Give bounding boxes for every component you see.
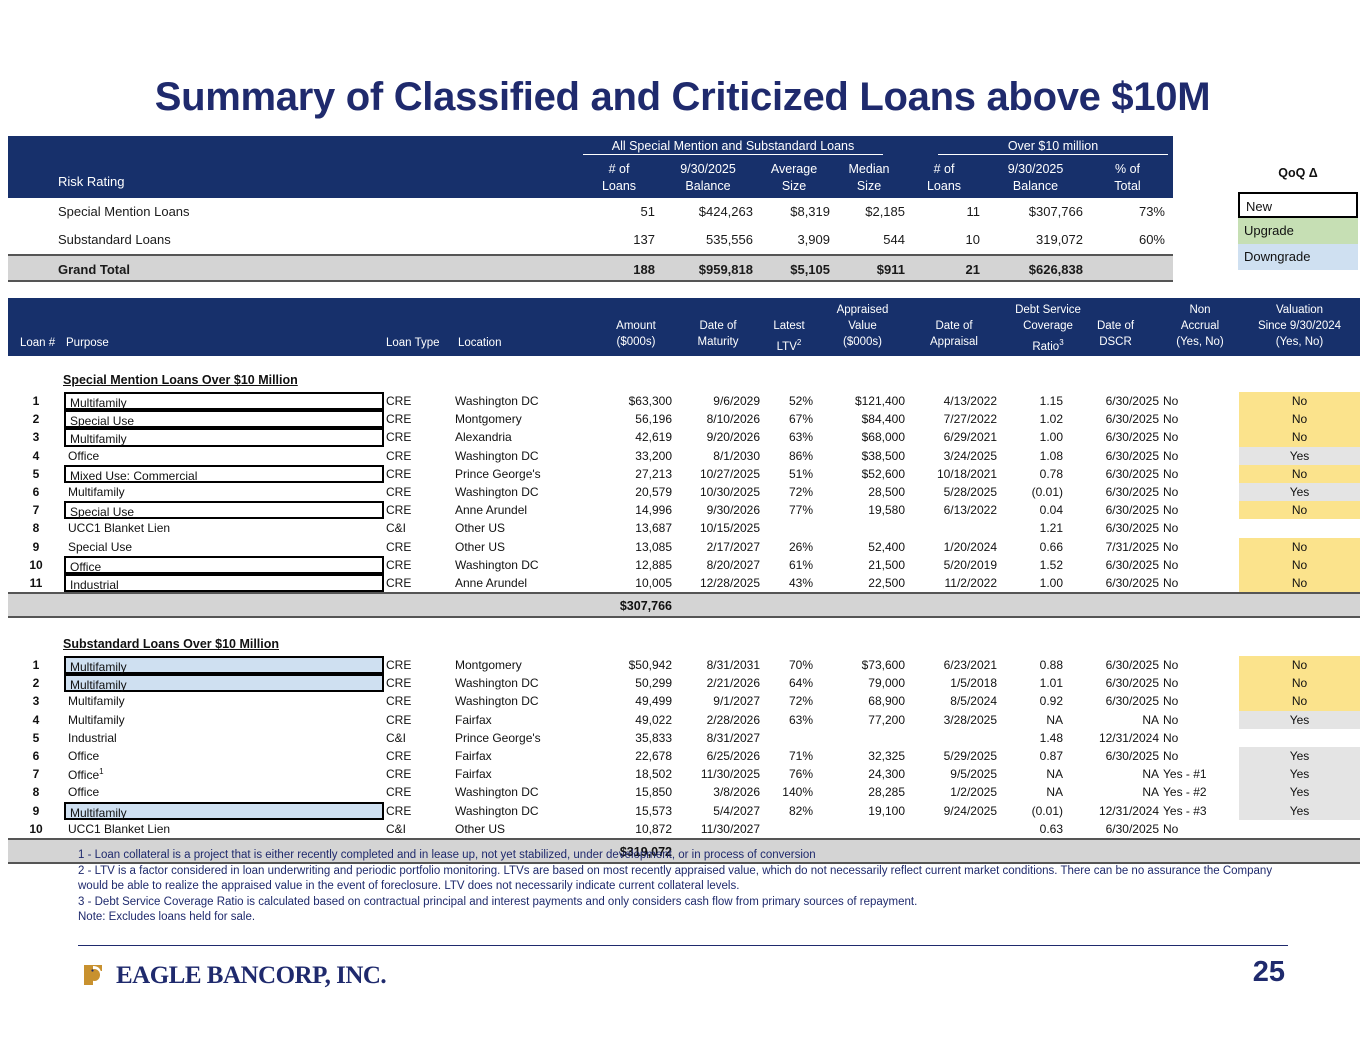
- summary-col-nloans-all-l1: # of: [583, 162, 655, 176]
- row-loan-number: 2: [24, 412, 48, 426]
- row-dscr: 1.08: [1003, 449, 1063, 463]
- row-dscr-date: NA: [1072, 767, 1159, 781]
- row-loan-number: 10: [24, 558, 48, 572]
- row-maturity-date: 9/20/2026: [676, 430, 760, 444]
- row-amount: $63,300: [600, 394, 672, 408]
- table-row[interactable]: 6MultifamilyCREWashington DC20,57910/30/…: [8, 483, 1360, 501]
- detail-col-ltv-text: LTV: [777, 341, 797, 353]
- row-appraised-value: $68,000: [820, 430, 905, 444]
- detail-header: Loan # Purpose Loan Type Location Amount…: [8, 298, 1360, 356]
- row-dscr: 0.88: [1003, 658, 1063, 672]
- table-row[interactable]: 8OfficeCREWashington DC15,8503/8/2026140…: [8, 783, 1360, 801]
- row-dscr-date: 6/30/2025: [1072, 503, 1159, 517]
- row-purpose-cell[interactable]: UCC1 Blanket Lien: [64, 820, 384, 838]
- row-appraised-value: 68,900: [820, 694, 905, 708]
- detail-col-amount-l1: Amount: [600, 320, 672, 333]
- row-purpose-cell[interactable]: Office: [64, 747, 384, 765]
- row-location: Montgomery: [455, 412, 605, 426]
- summary-row-substandard: Substandard Loans 137 535,556 3,909 544 …: [8, 226, 1173, 254]
- section-spacer: [8, 618, 1360, 634]
- row-dscr: 1.01: [1003, 676, 1063, 690]
- row-appraised-value: 28,285: [820, 785, 905, 799]
- detail-col-location: Location: [458, 337, 501, 349]
- summary-col-avgsize-l2: Size: [758, 179, 830, 193]
- row-maturity-date: 8/1/2030: [676, 449, 760, 463]
- row-appraisal-date: 1/2/2025: [911, 785, 997, 799]
- row-purpose-cell[interactable]: Industrial: [64, 574, 384, 592]
- row-loan-type: C&I: [386, 521, 456, 535]
- detail-col-dscr-l1: Debt Service: [993, 304, 1103, 317]
- row-ltv: 72%: [765, 694, 813, 708]
- detail-col-dscrdate-l2: DSCR: [1072, 336, 1159, 349]
- row-non-accrual: No: [1163, 503, 1237, 517]
- detail-spacer: [8, 356, 1360, 370]
- row-loan-type: CRE: [386, 576, 456, 590]
- section-title-label: Substandard Loans Over $10 Million: [63, 637, 279, 651]
- summary-cell-pcttotal: 60%: [1090, 232, 1165, 247]
- summary-row-special-mention: Special Mention Loans 51 $424,263 $8,319…: [8, 198, 1173, 226]
- row-dscr-date: 6/30/2025: [1072, 576, 1159, 590]
- detail-col-loantype: Loan Type: [386, 337, 440, 349]
- detail-col-valuation-l2: Since 9/30/2024: [1239, 320, 1360, 333]
- row-dscr-date: NA: [1072, 785, 1159, 799]
- row-dscr-date: 6/30/2025: [1072, 749, 1159, 763]
- row-appraised-value: 28,500: [820, 485, 905, 499]
- row-maturity-date: 8/10/2026: [676, 412, 760, 426]
- row-ltv: 64%: [765, 676, 813, 690]
- summary-col-mediansize-l2: Size: [833, 179, 905, 193]
- row-dscr-date: 12/31/2024: [1072, 731, 1159, 745]
- row-ltv: 52%: [765, 394, 813, 408]
- summary-total-nloans-all: 188: [583, 262, 655, 277]
- row-appraisal-date: 9/5/2025: [911, 767, 997, 781]
- row-appraisal-date: 5/28/2025: [911, 485, 997, 499]
- row-loan-type: CRE: [386, 449, 456, 463]
- row-ltv: 61%: [765, 558, 813, 572]
- row-non-accrual: No: [1163, 521, 1237, 535]
- row-amount: 27,213: [600, 467, 672, 481]
- row-purpose-label: Multifamily: [68, 694, 125, 708]
- row-non-accrual: No: [1163, 467, 1237, 481]
- detail-col-nonaccrual-l1: Non: [1163, 304, 1237, 317]
- qoq-legend: New Upgrade Downgrade: [1238, 192, 1358, 270]
- row-appraisal-date: 7/27/2022: [911, 412, 997, 426]
- detail-col-apprdate-l2: Appraisal: [911, 336, 997, 349]
- row-valuation: Yes: [1239, 483, 1360, 501]
- row-ltv: 82%: [765, 804, 813, 818]
- detail-col-dscr-footnote-ref: 3: [1059, 338, 1063, 347]
- row-appraisal-date: 1/20/2024: [911, 540, 997, 554]
- row-loan-type: CRE: [386, 676, 456, 690]
- row-purpose-cell[interactable]: Multifamily: [64, 428, 384, 446]
- detail-sections: Special Mention Loans Over $10 Million1M…: [8, 370, 1360, 864]
- row-purpose-cell[interactable]: Multifamily: [64, 656, 384, 674]
- table-row[interactable]: 2Special UseCREMontgomery56,1968/10/2026…: [8, 410, 1360, 428]
- row-purpose-label: Office: [68, 749, 99, 763]
- summary-cell-avgsize: 3,909: [758, 232, 830, 247]
- row-loan-type: CRE: [386, 749, 456, 763]
- detail-col-apprval-l1: Appraised: [820, 304, 905, 317]
- row-maturity-date: 2/21/2026: [676, 676, 760, 690]
- row-purpose-cell[interactable]: Special Use: [64, 410, 384, 428]
- row-location: Fairfax: [455, 713, 605, 727]
- row-dscr-date: 6/30/2025: [1072, 412, 1159, 426]
- row-ltv: 86%: [765, 449, 813, 463]
- summary-cell-nloans-over: 11: [908, 204, 980, 219]
- summary-col-mediansize-l1: Median: [833, 162, 905, 176]
- table-row[interactable]: 1MultifamilyCREWashington DC$63,3009/6/2…: [8, 392, 1360, 410]
- row-amount: 14,996: [600, 503, 672, 517]
- row-purpose-cell[interactable]: Multifamily: [64, 711, 384, 729]
- summary-total-mediansize: $911: [833, 262, 905, 277]
- row-purpose-label: Office: [68, 785, 99, 799]
- row-dscr-date: 6/30/2025: [1072, 430, 1159, 444]
- row-amount: 35,833: [600, 731, 672, 745]
- row-dscr: 1.00: [1003, 430, 1063, 444]
- footnote-1: 1 - Loan collateral is a project that is…: [78, 848, 1288, 864]
- row-amount: 20,579: [600, 485, 672, 499]
- table-row[interactable]: 6OfficeCREFairfax22,6786/25/202671%32,32…: [8, 747, 1360, 765]
- row-dscr-date: NA: [1072, 713, 1159, 727]
- row-loan-type: CRE: [386, 713, 456, 727]
- table-row[interactable]: 5IndustrialC&IPrince George's35,8338/31/…: [8, 729, 1360, 747]
- summary-cell-nloans-all: 51: [583, 204, 655, 219]
- row-appraised-value: $52,600: [820, 467, 905, 481]
- row-loan-type: CRE: [386, 394, 456, 408]
- slide-root: Summary of Classified and Criticized Loa…: [0, 0, 1365, 1055]
- row-maturity-date: 10/30/2025: [676, 485, 760, 499]
- row-maturity-date: 5/4/2027: [676, 804, 760, 818]
- summary-cell-balance-all: $424,263: [663, 204, 753, 219]
- row-dscr-date: 6/30/2025: [1072, 676, 1159, 690]
- row-location: Other US: [455, 822, 605, 836]
- row-dscr-date: 6/30/2025: [1072, 521, 1159, 535]
- row-dscr: 1.02: [1003, 412, 1063, 426]
- table-row[interactable]: 4MultifamilyCREFairfax49,0222/28/202663%…: [8, 711, 1360, 729]
- row-appraisal-date: 8/5/2024: [911, 694, 997, 708]
- row-purpose-cell[interactable]: Multifamily: [64, 674, 384, 692]
- row-purpose-cell[interactable]: Office: [64, 556, 384, 574]
- row-ltv: 67%: [765, 412, 813, 426]
- row-non-accrual: No: [1163, 749, 1237, 763]
- row-appraisal-date: 4/13/2022: [911, 394, 997, 408]
- row-purpose-label: Multifamily: [70, 806, 127, 820]
- row-purpose-label: UCC1 Blanket Lien: [68, 822, 170, 836]
- detail-col-valuation-l1: Valuation: [1239, 304, 1360, 317]
- row-amount: 42,619: [600, 430, 672, 444]
- row-loan-number: 1: [24, 658, 48, 672]
- detail-col-ltv-l2: LTV2: [765, 336, 813, 354]
- row-purpose-label: Special Use: [70, 414, 134, 428]
- row-valuation: Yes: [1239, 711, 1360, 729]
- row-appraisal-date: 5/29/2025: [911, 749, 997, 763]
- row-dscr-date: 6/30/2025: [1072, 694, 1159, 708]
- row-loan-number: 6: [24, 485, 48, 499]
- row-loan-number: 2: [24, 676, 48, 690]
- row-loan-number: 11: [24, 576, 48, 590]
- summary-col-balance-all-l2: Balance: [663, 179, 753, 193]
- row-loan-number: 7: [24, 767, 48, 781]
- row-location: Washington DC: [455, 804, 605, 818]
- row-purpose-label: Industrial: [68, 731, 117, 745]
- row-ltv: 26%: [765, 540, 813, 554]
- row-dscr: 1.21: [1003, 521, 1063, 535]
- row-purpose-label: UCC1 Blanket Lien: [68, 521, 170, 535]
- row-loan-type: CRE: [386, 658, 456, 672]
- row-loan-number: 7: [24, 503, 48, 517]
- row-location: Washington DC: [455, 694, 605, 708]
- summary-risk-rating-header: Risk Rating: [58, 174, 124, 189]
- table-row[interactable]: 7Special UseCREAnne Arundel14,9969/30/20…: [8, 501, 1360, 519]
- row-amount: 15,573: [600, 804, 672, 818]
- detail-col-valuation-l3: (Yes, No): [1239, 336, 1360, 349]
- row-non-accrual: No: [1163, 658, 1237, 672]
- summary-cell-balance-over: $307,766: [988, 204, 1083, 219]
- row-location: Prince George's: [455, 731, 605, 745]
- detail-col-dscr-text: Ratio: [1032, 341, 1059, 353]
- row-maturity-date: 9/30/2026: [676, 503, 760, 517]
- row-non-accrual: No: [1163, 430, 1237, 444]
- row-loan-type: CRE: [386, 412, 456, 426]
- row-valuation: [1239, 519, 1360, 537]
- table-row[interactable]: 3MultifamilyCREAlexandria42,6199/20/2026…: [8, 428, 1360, 446]
- row-loan-number: 8: [24, 521, 48, 535]
- row-purpose-label: Special Use: [68, 540, 132, 554]
- summary-total-label: Grand Total: [58, 262, 130, 277]
- row-purpose-label: Office: [70, 560, 101, 574]
- row-purpose-cell[interactable]: Mixed Use: Commercial: [64, 465, 384, 483]
- footer-divider: [78, 945, 1288, 946]
- detail-col-maturity-l2: Maturity: [676, 336, 760, 349]
- table-row[interactable]: 9Special UseCREOther US13,0852/17/202726…: [8, 538, 1360, 556]
- table-row[interactable]: 1MultifamilyCREMontgomery$50,9428/31/203…: [8, 656, 1360, 674]
- row-appraised-value: 19,100: [820, 804, 905, 818]
- row-purpose-label: Mixed Use: Commercial: [70, 469, 197, 483]
- row-purpose-cell[interactable]: Multifamily: [64, 692, 384, 710]
- page-number: 25: [1253, 956, 1285, 989]
- summary-col-nloans-over-l1: # of: [908, 162, 980, 176]
- row-purpose-cell[interactable]: Special Use: [64, 538, 384, 556]
- row-valuation: No: [1239, 674, 1360, 692]
- row-amount: 15,850: [600, 785, 672, 799]
- detail-col-ltv-footnote-ref: 2: [797, 338, 801, 347]
- row-dscr-date: 6/30/2025: [1072, 449, 1159, 463]
- summary-col-nloans-all-l2: Loans: [583, 179, 655, 193]
- row-dscr: NA: [1003, 713, 1063, 727]
- row-dscr: 1.15: [1003, 394, 1063, 408]
- summary-header: All Special Mention and Substandard Loan…: [8, 136, 1173, 198]
- row-dscr-date: 6/30/2025: [1072, 558, 1159, 572]
- row-appraised-value: 77,200: [820, 713, 905, 727]
- row-amount: 18,502: [600, 767, 672, 781]
- row-purpose-cell[interactable]: Industrial: [64, 729, 384, 747]
- row-location: Washington DC: [455, 394, 605, 408]
- row-dscr-date: 12/31/2024: [1072, 804, 1159, 818]
- row-maturity-date: 10/27/2025: [676, 467, 760, 481]
- row-loan-number: 5: [24, 731, 48, 745]
- summary-cell-pcttotal: 73%: [1090, 204, 1165, 219]
- table-row[interactable]: 4OfficeCREWashington DC33,2008/1/203086%…: [8, 447, 1360, 465]
- row-valuation: Yes: [1239, 802, 1360, 820]
- row-valuation: Yes: [1239, 447, 1360, 465]
- table-row[interactable]: 11IndustrialCREAnne Arundel10,00512/28/2…: [8, 574, 1360, 592]
- row-purpose-label: Multifamily: [68, 713, 125, 727]
- row-ltv: 70%: [765, 658, 813, 672]
- detail-col-dscrdate-l1: Date of: [1072, 320, 1159, 333]
- row-location: Washington DC: [455, 676, 605, 690]
- row-maturity-date: 6/25/2026: [676, 749, 760, 763]
- footnote-note: Note: Excludes loans held for sale.: [78, 910, 1288, 926]
- row-appraised-value: $121,400: [820, 394, 905, 408]
- row-amount: $50,942: [600, 658, 672, 672]
- row-maturity-date: 2/17/2027: [676, 540, 760, 554]
- row-purpose-label: Multifamily: [70, 432, 127, 446]
- row-appraised-value: 19,580: [820, 503, 905, 517]
- table-row[interactable]: 5Mixed Use: CommercialCREPrince George's…: [8, 465, 1360, 483]
- table-row[interactable]: 10OfficeCREWashington DC12,8858/20/20276…: [8, 556, 1360, 574]
- row-amount: 10,005: [600, 576, 672, 590]
- row-ltv: 63%: [765, 430, 813, 444]
- summary-cell-avgsize: $8,319: [758, 204, 830, 219]
- row-loan-number: 9: [24, 540, 48, 554]
- detail-col-purpose: Purpose: [66, 337, 109, 349]
- row-non-accrual: No: [1163, 449, 1237, 463]
- row-maturity-date: 8/31/2031: [676, 658, 760, 672]
- row-purpose-label: Office: [68, 449, 99, 463]
- row-appraised-value: 22,500: [820, 576, 905, 590]
- table-row[interactable]: 3MultifamilyCREWashington DC49,4999/1/20…: [8, 692, 1360, 710]
- summary-cell-nloans-over: 10: [908, 232, 980, 247]
- summary-cell-balance-all: 535,556: [663, 232, 753, 247]
- row-appraisal-date: 5/20/2019: [911, 558, 997, 572]
- row-purpose-cell[interactable]: Office: [64, 783, 384, 801]
- row-amount: 10,872: [600, 822, 672, 836]
- row-loan-type: CRE: [386, 540, 456, 554]
- detail-col-apprval-l3: ($000s): [820, 336, 905, 349]
- row-dscr-date: 6/30/2025: [1072, 822, 1159, 836]
- row-maturity-date: 11/30/2027: [676, 822, 760, 836]
- row-loan-number: 8: [24, 785, 48, 799]
- row-appraisal-date: 11/2/2022: [911, 576, 997, 590]
- row-loan-number: 5: [24, 467, 48, 481]
- summary-group-header-over10m: Over $10 million: [938, 139, 1168, 155]
- row-dscr: 0.92: [1003, 694, 1063, 708]
- row-dscr: 0.04: [1003, 503, 1063, 517]
- table-row[interactable]: 10UCC1 Blanket LienC&IOther US10,87211/3…: [8, 820, 1360, 838]
- row-location: Washington DC: [455, 785, 605, 799]
- summary-col-balance-over-l2: Balance: [988, 179, 1083, 193]
- row-ltv: 77%: [765, 503, 813, 517]
- row-non-accrual: No: [1163, 394, 1237, 408]
- page-title: Summary of Classified and Criticized Loa…: [0, 75, 1365, 120]
- row-purpose-label: Multifamily: [70, 660, 127, 674]
- detail-col-apprdate-l1: Date of: [911, 320, 997, 333]
- row-loan-type: CRE: [386, 430, 456, 444]
- row-purpose-cell[interactable]: Special Use: [64, 501, 384, 519]
- row-valuation: No: [1239, 574, 1360, 592]
- footnote-2: 2 - LTV is a factor considered in loan u…: [78, 864, 1288, 895]
- row-non-accrual: Yes - #1: [1163, 767, 1237, 781]
- row-non-accrual: No: [1163, 676, 1237, 690]
- section-subtotal-row: $307,766: [8, 592, 1360, 618]
- row-location: Anne Arundel: [455, 576, 605, 590]
- table-row[interactable]: 7Office1CREFairfax18,50211/30/202576%24,…: [8, 765, 1360, 783]
- summary-col-nloans-over-l2: Loans: [908, 179, 980, 193]
- row-appraised-value: 24,300: [820, 767, 905, 781]
- table-row[interactable]: 8UCC1 Blanket LienC&IOther US13,68710/15…: [8, 519, 1360, 537]
- row-dscr: (0.01): [1003, 804, 1063, 818]
- row-amount: 33,200: [600, 449, 672, 463]
- summary-col-pcttotal-l1: % of: [1090, 162, 1165, 176]
- row-dscr: NA: [1003, 785, 1063, 799]
- detail-col-ltv-l1: Latest: [765, 320, 813, 333]
- table-row[interactable]: 9MultifamilyCREWashington DC15,5735/4/20…: [8, 802, 1360, 820]
- detail-col-nonaccrual-l3: (Yes, No): [1163, 336, 1237, 349]
- row-amount: 22,678: [600, 749, 672, 763]
- qoq-legend-item-downgrade: Downgrade: [1238, 244, 1358, 270]
- qoq-legend-item-new: New: [1238, 192, 1358, 218]
- row-appraised-value: $84,400: [820, 412, 905, 426]
- row-location: Fairfax: [455, 749, 605, 763]
- row-purpose-cell[interactable]: Multifamily: [64, 392, 384, 410]
- summary-col-avgsize-l1: Average: [758, 162, 830, 176]
- row-appraisal-date: 9/24/2025: [911, 804, 997, 818]
- row-purpose-label: Industrial: [70, 578, 119, 592]
- row-valuation: No: [1239, 501, 1360, 519]
- row-valuation: No: [1239, 465, 1360, 483]
- detail-col-amount-l2: ($000s): [600, 336, 672, 349]
- row-location: Montgomery: [455, 658, 605, 672]
- row-loan-number: 3: [24, 430, 48, 444]
- row-purpose-cell[interactable]: Office1: [64, 765, 384, 783]
- row-purpose-cell[interactable]: UCC1 Blanket Lien: [64, 519, 384, 537]
- row-valuation: No: [1239, 556, 1360, 574]
- row-non-accrual: No: [1163, 731, 1237, 745]
- row-valuation: No: [1239, 428, 1360, 446]
- row-location: Washington DC: [455, 449, 605, 463]
- row-purpose-cell[interactable]: Office: [64, 447, 384, 465]
- row-valuation: [1239, 820, 1360, 838]
- row-ltv: 63%: [765, 713, 813, 727]
- row-location: Other US: [455, 521, 605, 535]
- summary-total-balance-over: $626,838: [988, 262, 1083, 277]
- row-loan-type: CRE: [386, 485, 456, 499]
- row-purpose-cell[interactable]: Multifamily: [64, 802, 384, 820]
- row-location: Prince George's: [455, 467, 605, 481]
- row-non-accrual: Yes - #2: [1163, 785, 1237, 799]
- row-purpose-cell[interactable]: Multifamily: [64, 483, 384, 501]
- row-non-accrual: No: [1163, 540, 1237, 554]
- row-appraised-value: 21,500: [820, 558, 905, 572]
- row-valuation: Yes: [1239, 783, 1360, 801]
- row-ltv: 51%: [765, 467, 813, 481]
- row-loan-type: CRE: [386, 694, 456, 708]
- row-appraisal-date: 1/5/2018: [911, 676, 997, 690]
- eagle-bancorp-logo: EAGLE BANCORP, INC.: [82, 958, 386, 994]
- table-row[interactable]: 2MultifamilyCREWashington DC50,2992/21/2…: [8, 674, 1360, 692]
- row-valuation: No: [1239, 538, 1360, 556]
- row-purpose-label: Multifamily: [70, 396, 127, 410]
- logo-wordmark: EAGLE BANCORP, INC.: [116, 962, 386, 990]
- row-ltv: 71%: [765, 749, 813, 763]
- row-purpose-label: Multifamily: [70, 678, 127, 692]
- footnote-3: 3 - Debt Service Coverage Ratio is calcu…: [78, 895, 1288, 911]
- row-valuation: Yes: [1239, 747, 1360, 765]
- summary-col-balance-over-l1: 9/30/2025: [988, 162, 1083, 176]
- summary-cell-balance-over: 319,072: [988, 232, 1083, 247]
- row-non-accrual: No: [1163, 485, 1237, 499]
- row-non-accrual: No: [1163, 576, 1237, 590]
